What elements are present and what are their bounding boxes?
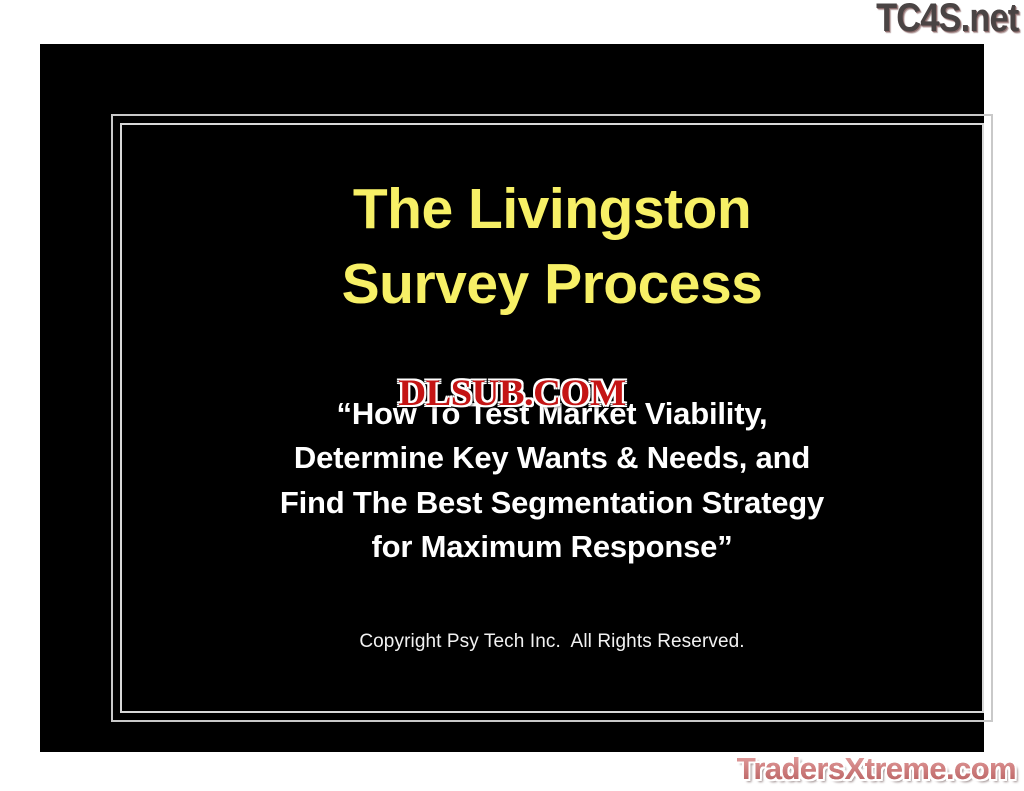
slide-canvas: The Livingston Survey Process “How To Te… — [0, 0, 1024, 791]
watermark-tradersxtreme-com: TradersXtreme.com — [737, 751, 1016, 787]
slide-subtitle: “How To Test Market Viability, Determine… — [136, 322, 968, 568]
copyright-notice: Copyright Psy Tech Inc. All Rights Reser… — [136, 569, 968, 653]
watermark-dlsub-com: DLSUB.COM — [398, 372, 625, 415]
watermark-tc4s-net: TC4S.net — [876, 0, 1018, 41]
slide-content: The Livingston Survey Process “How To Te… — [136, 140, 968, 696]
slide-title: The Livingston Survey Process — [136, 140, 968, 322]
